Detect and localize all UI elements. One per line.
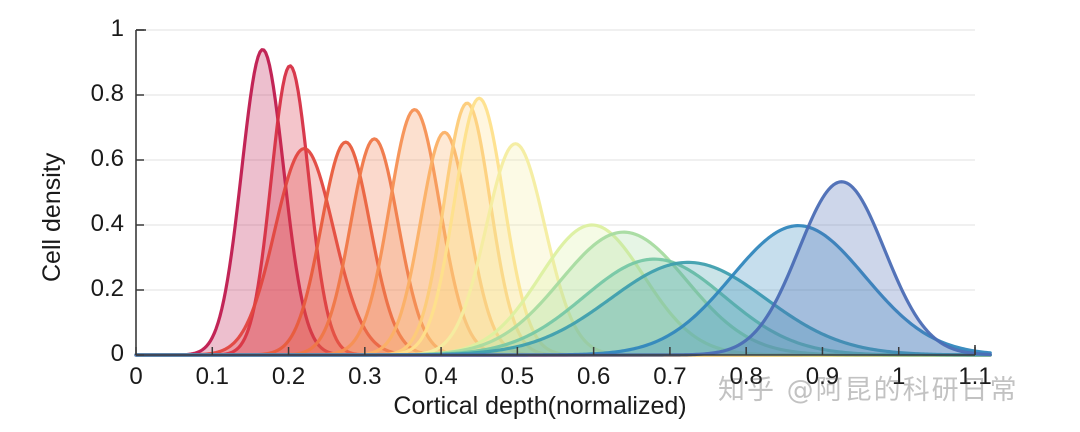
x-tick-label: 0.8 bbox=[706, 363, 786, 391]
x-tick-label: 0.2 bbox=[249, 363, 329, 391]
x-tick-label: 0.5 bbox=[477, 363, 557, 391]
x-tick-label: 0.3 bbox=[325, 363, 405, 391]
x-tick-label: 0.4 bbox=[401, 363, 481, 391]
y-axis-label: Cell density bbox=[38, 153, 67, 282]
y-tick-label: 1 bbox=[44, 15, 124, 43]
x-tick-label: 1 bbox=[859, 363, 939, 391]
y-tick-label: 0 bbox=[44, 340, 124, 368]
x-tick-label: 0.7 bbox=[630, 363, 710, 391]
x-axis-label: Cortical depth(normalized) bbox=[0, 392, 1080, 421]
y-tick-label: 0.8 bbox=[44, 80, 124, 108]
x-tick-label: 0.1 bbox=[172, 363, 252, 391]
x-tick-label: 1.1 bbox=[935, 363, 1015, 391]
x-tick-label: 0.9 bbox=[782, 363, 862, 391]
x-tick-label: 0.6 bbox=[554, 363, 634, 391]
